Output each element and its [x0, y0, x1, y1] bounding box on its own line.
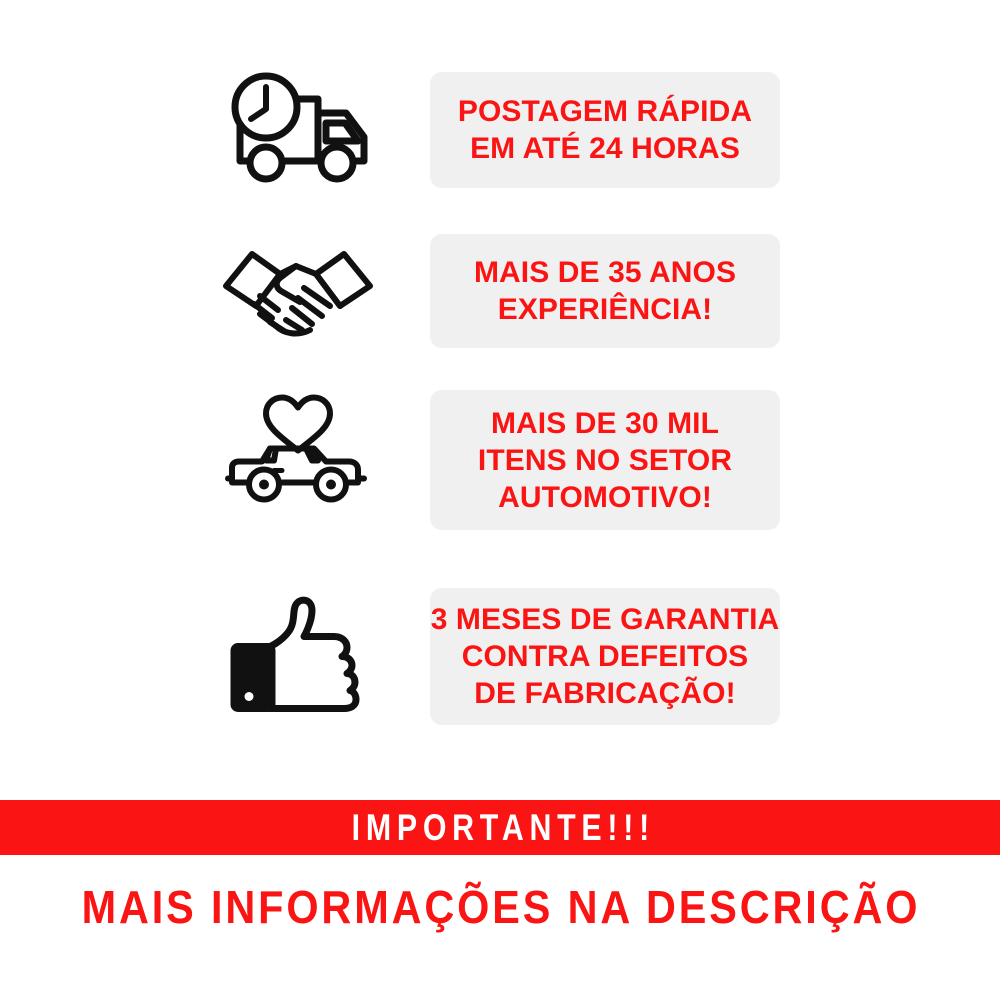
feature-row-warranty: 3 MESES DE GARANTIA CONTRA DEFEITOS DE F…	[0, 576, 1000, 741]
feature-text-box: MAIS DE 35 ANOS EXPERIÊNCIA!	[430, 234, 780, 348]
feature-line: EXPERIÊNCIA!	[498, 291, 713, 328]
feature-line: 3 MESES DE GARANTIA	[431, 601, 780, 638]
feature-line: POSTAGEM RÁPIDA	[458, 93, 752, 130]
feature-line: ITENS NO SETOR	[478, 442, 732, 479]
thumbs-up-icon	[218, 582, 378, 722]
feature-row-shipping: POSTAGEM RÁPIDA EM ATÉ 24 HORAS	[0, 60, 1000, 200]
feature-list: POSTAGEM RÁPIDA EM ATÉ 24 HORAS	[0, 0, 1000, 780]
handshake-icon	[218, 230, 378, 348]
feature-line: EM ATÉ 24 HORAS	[470, 130, 740, 167]
feature-line: DE FABRICAÇÃO!	[474, 675, 735, 712]
feature-text-box: 3 MESES DE GARANTIA CONTRA DEFEITOS DE F…	[430, 588, 780, 725]
feature-line: MAIS DE 35 ANOS	[474, 254, 736, 291]
feature-line: AUTOMOTIVO!	[498, 479, 712, 516]
car-heart-icon	[218, 386, 378, 516]
feature-line: MAIS DE 30 MIL	[491, 405, 719, 442]
feature-text-box: MAIS DE 30 MIL ITENS NO SETOR AUTOMOTIVO…	[430, 390, 780, 530]
footer-note: MAIS INFORMAÇÕES NA DESCRIÇÃO	[0, 876, 1000, 938]
feature-line: CONTRA DEFEITOS	[462, 638, 749, 675]
feature-text-box: POSTAGEM RÁPIDA EM ATÉ 24 HORAS	[430, 72, 780, 188]
promo-banner-page: POSTAGEM RÁPIDA EM ATÉ 24 HORAS	[0, 0, 1000, 1000]
delivery-truck-clock-icon	[218, 65, 378, 193]
important-banner-text: IMPORTANTE!!!	[345, 808, 654, 848]
feature-row-experience: MAIS DE 35 ANOS EXPERIÊNCIA!	[0, 222, 1000, 362]
feature-row-catalog: MAIS DE 30 MIL ITENS NO SETOR AUTOMOTIVO…	[0, 378, 1000, 543]
footer-note-text: MAIS INFORMAÇÕES NA DESCRIÇÃO	[79, 881, 921, 933]
important-banner: IMPORTANTE!!!	[0, 800, 1000, 855]
